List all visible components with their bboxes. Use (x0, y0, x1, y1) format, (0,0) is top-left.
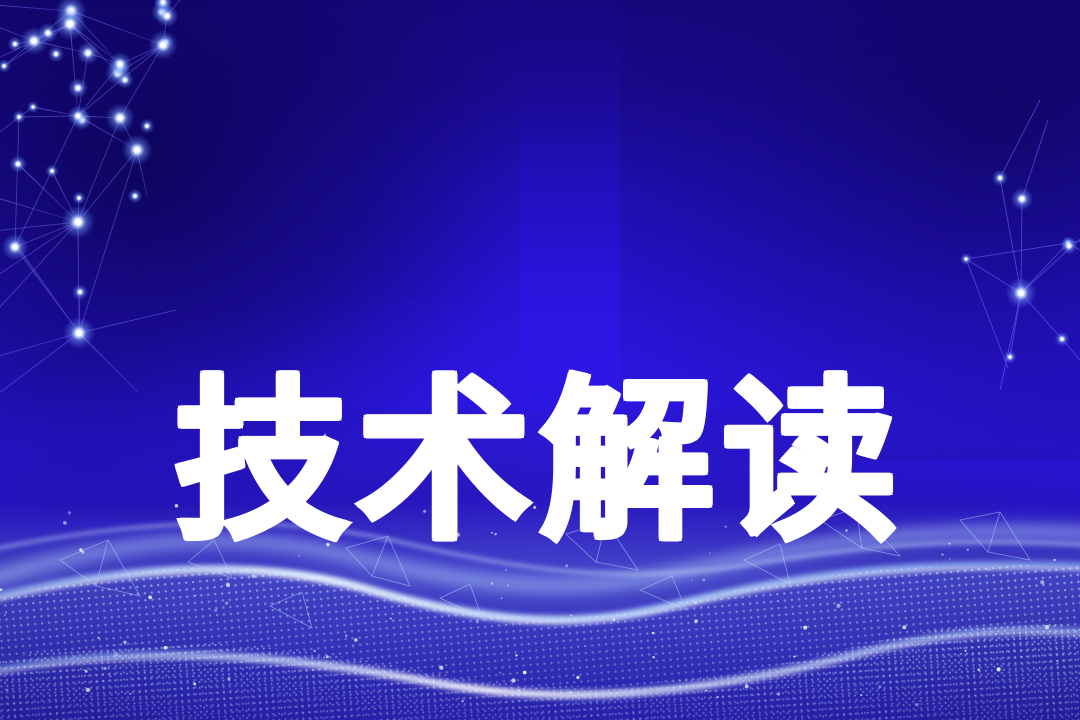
wave-sparkle (461, 700, 463, 702)
wave-sparkle (717, 696, 719, 698)
wave-sparkle (227, 678, 230, 681)
title-block: 技术解读 (0, 252, 1080, 673)
wave-sparkle (518, 690, 520, 692)
wave-sparkle (745, 684, 749, 688)
wave-sparkle (110, 676, 111, 677)
poster-canvas: 技术解读 (0, 0, 1080, 720)
wave-sparkle (6, 689, 8, 691)
wave-sparkle (705, 690, 707, 692)
wave-sparkle (576, 676, 579, 679)
wave-sparkle (879, 685, 882, 688)
wave-sparkle (860, 694, 862, 696)
poster-title: 技术解读 (175, 369, 906, 557)
wave-sparkle (569, 691, 572, 694)
wave-sparkle (915, 703, 918, 706)
wave-sparkle (777, 693, 780, 696)
wave-sparkle (86, 688, 90, 692)
wave-sparkle (129, 693, 131, 695)
wave-sparkle (193, 683, 196, 686)
wave-sparkle (511, 678, 515, 682)
wave-sparkle (486, 693, 488, 695)
